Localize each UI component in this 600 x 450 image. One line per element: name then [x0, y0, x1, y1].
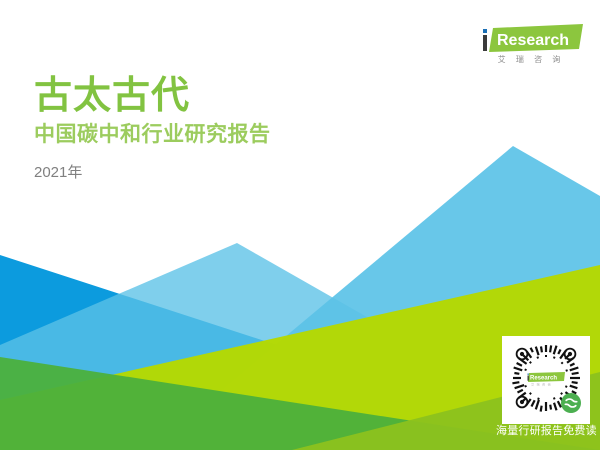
iresearch-logo: Research 艾 瑞 咨 询: [479, 24, 583, 70]
page-subtitle: 中国碳中和行业研究报告: [34, 120, 414, 150]
qr-code-caption: 海量行研报告免费读: [496, 424, 596, 439]
iresearch-logo-subtitle: 艾 瑞 咨 询: [481, 54, 581, 66]
page-title: 古太古代: [34, 74, 414, 118]
title-block: 古太古代 中国碳中和行业研究报告 2021年: [34, 74, 414, 184]
svg-text:Research: Research: [497, 32, 569, 49]
qr-code-card[interactable]: Research 艾瑞咨询: [502, 336, 590, 424]
iresearch-logo-icon: Research: [479, 24, 583, 54]
wechat-miniprogram-icon: [561, 393, 581, 413]
report-year: 2021年: [34, 162, 414, 184]
report-cover-page: Research 艾 瑞 咨 询 古太古代 中国碳中和行业研究报告 2021年: [0, 0, 600, 450]
qr-center-logo: Research 艾瑞咨询: [526, 372, 566, 387]
svg-text:艾瑞咨询: 艾瑞咨询: [531, 382, 553, 387]
svg-text:Research: Research: [530, 376, 557, 382]
qr-code-icon[interactable]: Research 艾瑞咨询: [502, 336, 590, 424]
